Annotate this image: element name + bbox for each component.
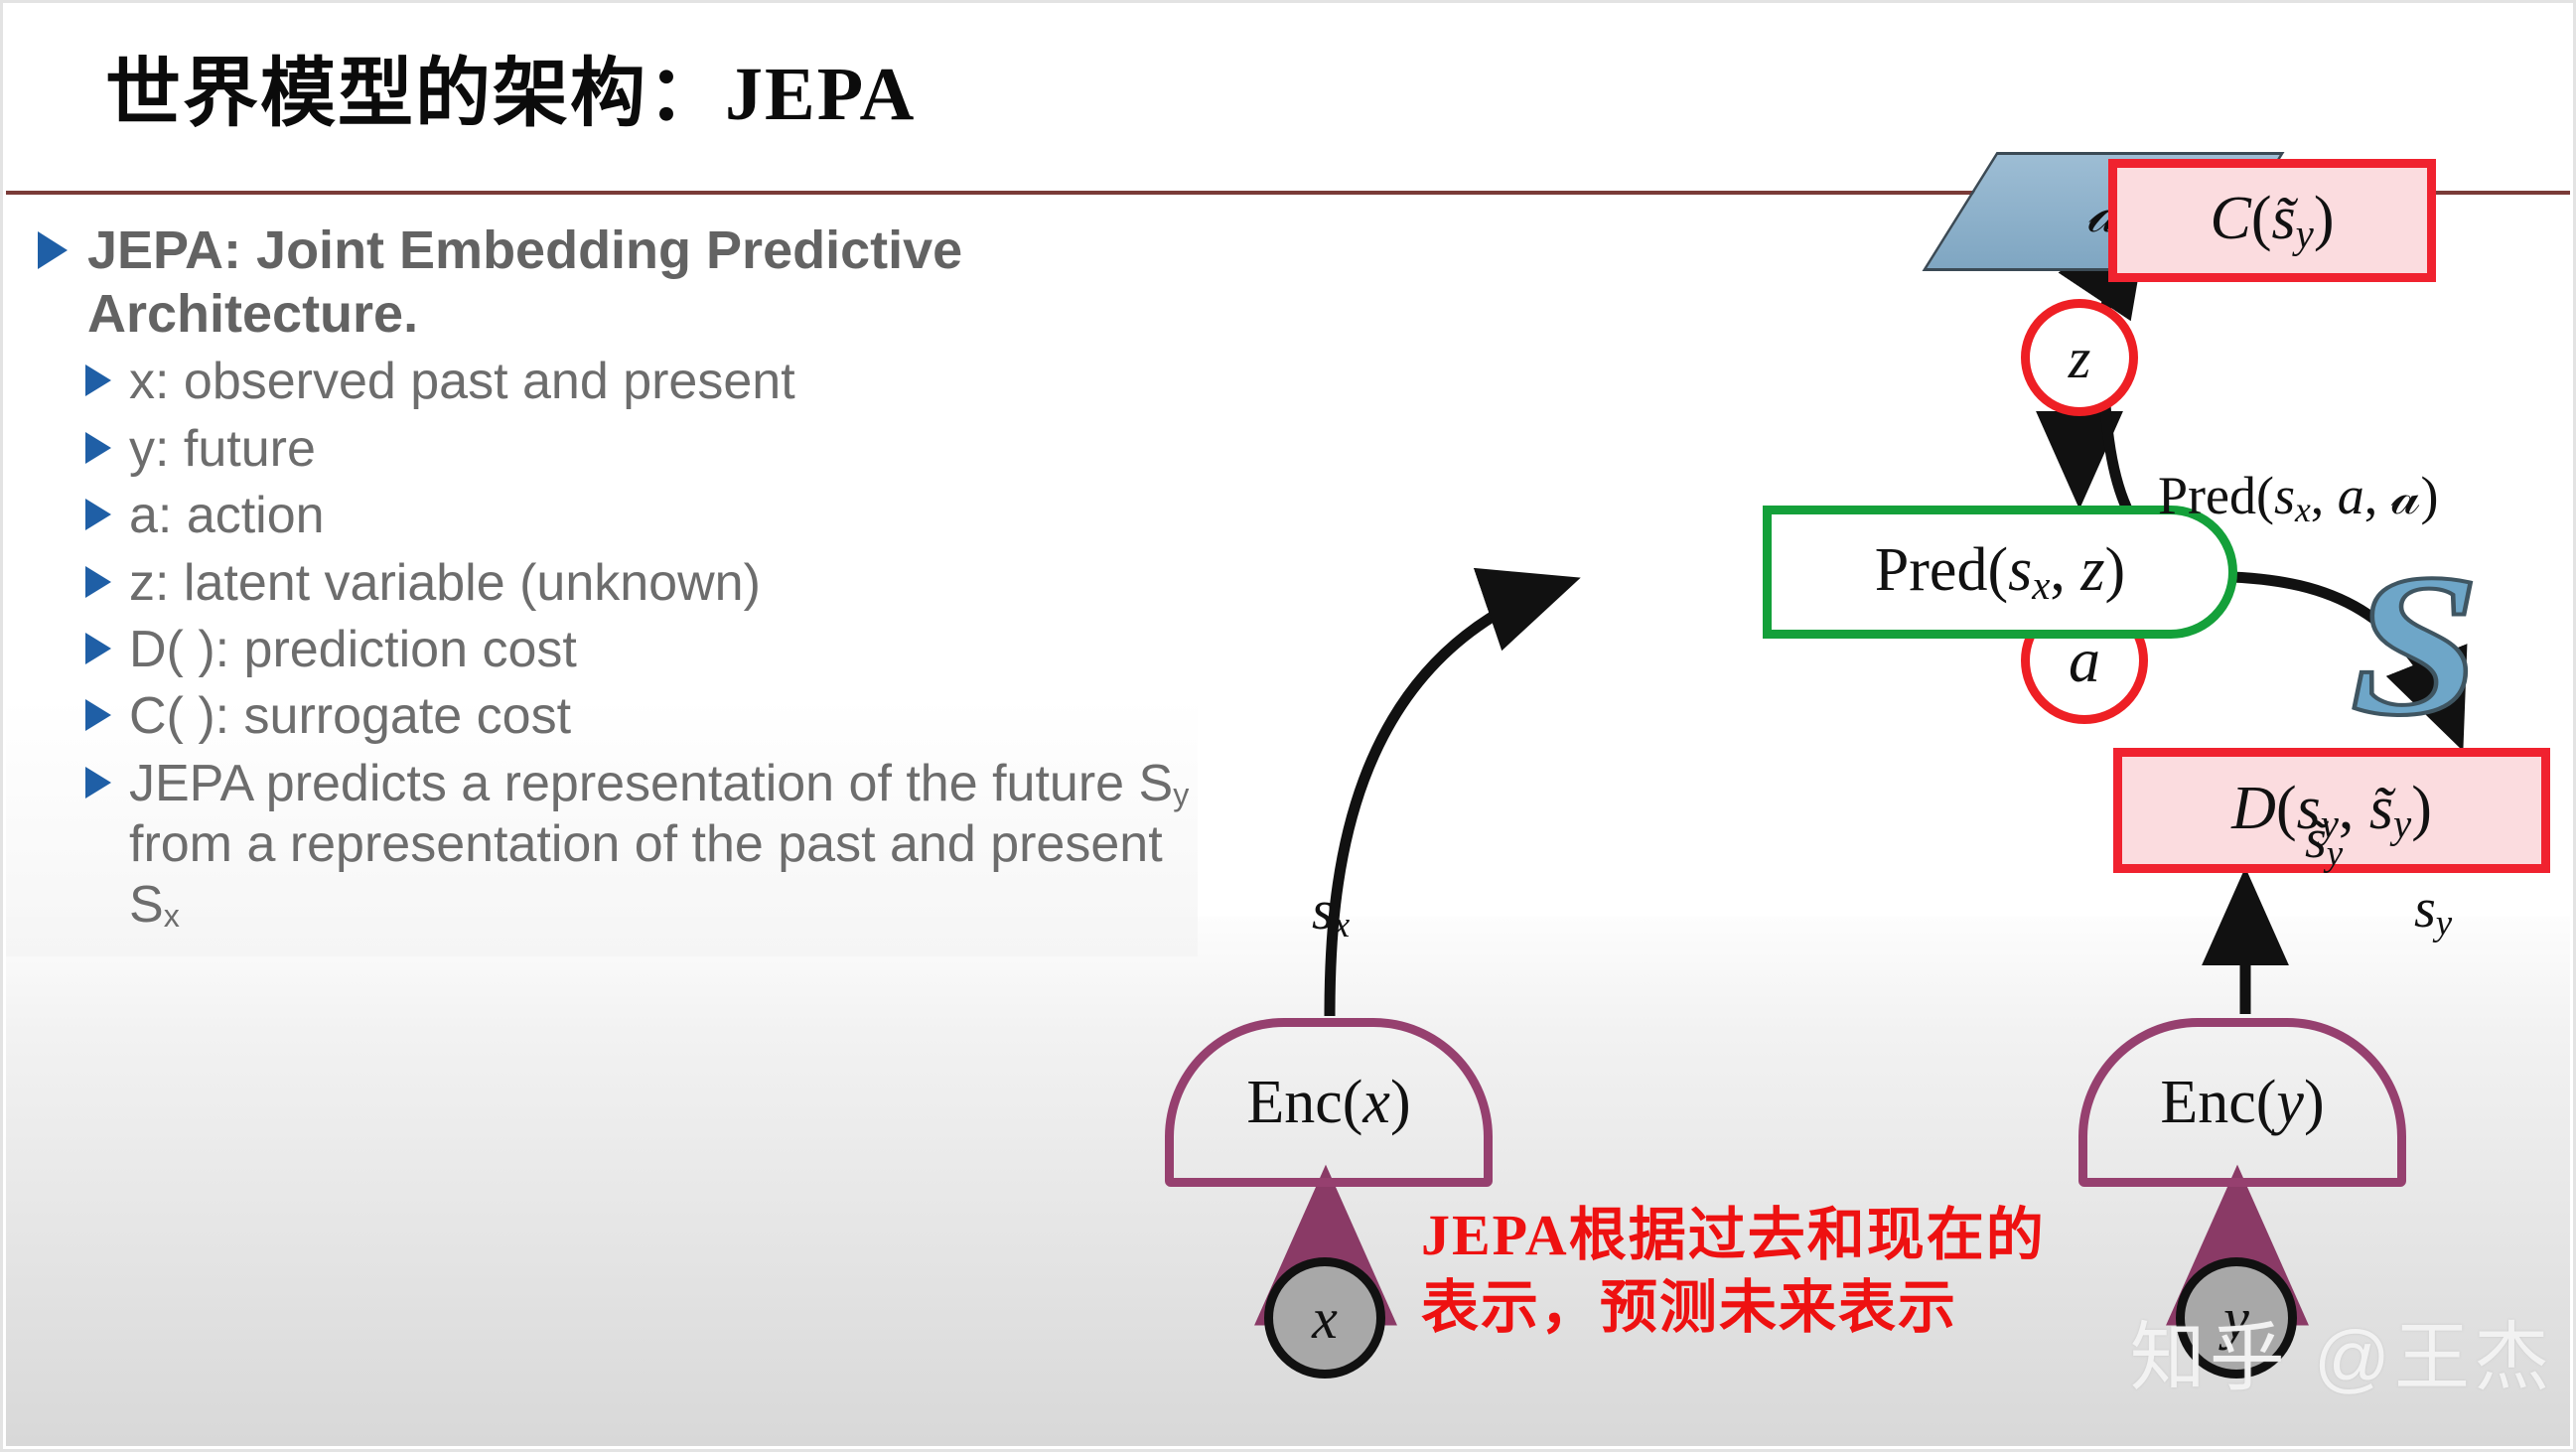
node-encoder-y-label: Enc(y) xyxy=(2160,1068,2324,1138)
edge-label-sy: sy xyxy=(2414,877,2452,944)
node-z-label: z xyxy=(2069,325,2091,391)
list-item: z: latent variable (unknown) xyxy=(85,553,1210,614)
node-encoder-x[interactable]: Enc(x) xyxy=(1165,1018,1493,1187)
list-item: y: future xyxy=(85,419,1210,480)
node-encoder-y[interactable]: Enc(y) xyxy=(2078,1018,2406,1187)
red-annotation-line1: JEPA根据过去和现在的 xyxy=(1421,1199,2046,1271)
red-annotation: JEPA根据过去和现在的 表示，预测未来表示 xyxy=(1421,1199,2046,1344)
list-item: x: observed past and present xyxy=(85,352,1210,412)
bullet-triangle-icon xyxy=(85,633,111,664)
page-title: 世界模型的架构：JEPA xyxy=(105,32,916,141)
bullet-triangle-icon xyxy=(85,699,111,731)
edge-label-sx: sx xyxy=(1312,879,1350,945)
list-item: D( ): prediction cost xyxy=(85,620,1210,680)
bullet-triangle-icon xyxy=(85,566,111,598)
red-annotation-line2: 表示，预测未来表示 xyxy=(1421,1271,2046,1344)
node-surrogate-cost-label: C(s̃y) xyxy=(2211,184,2335,257)
bullet-text: z: latent variable (unknown) xyxy=(129,553,761,614)
bullet-text: x: observed past and present xyxy=(129,352,795,412)
node-z-circle[interactable]: z xyxy=(2021,299,2138,416)
list-item: C( ): surrogate cost xyxy=(85,686,1210,747)
node-y-label: y xyxy=(2223,1285,2249,1352)
node-predictor-label: Pred(sx, z) xyxy=(1875,535,2125,609)
node-x-label: x xyxy=(1312,1285,1338,1352)
bullet-text: JEPA: Joint Embedding Predictive Archite… xyxy=(87,219,1210,346)
bullet-triangle-icon xyxy=(38,231,68,269)
slide-canvas: 世界模型的架构：JEPA JEPA: Joint Embedding Predi… xyxy=(0,0,2576,1452)
bullet-text: a: action xyxy=(129,486,325,546)
list-item: JEPA: Joint Embedding Predictive Archite… xyxy=(38,219,1210,346)
bullet-triangle-icon xyxy=(85,499,111,530)
list-item: a: action xyxy=(85,486,1210,546)
node-surrogate-cost-box[interactable]: C(s̃y) xyxy=(2108,159,2436,282)
bullet-text: JEPA predicts a representation of the fu… xyxy=(129,754,1210,937)
bullet-text: C( ): surrogate cost xyxy=(129,686,571,747)
bullet-triangle-icon xyxy=(85,432,111,464)
bullet-list: JEPA: Joint Embedding Predictive Archite… xyxy=(38,219,1210,943)
edge-label-s-tilde-y: s̃y xyxy=(2305,807,2343,874)
node-y-circle[interactable]: y xyxy=(2176,1257,2297,1379)
bullet-triangle-icon xyxy=(85,767,111,799)
arrow-encx-to-pred xyxy=(1330,584,1562,1016)
blue-s-glyph-icon: S xyxy=(2350,559,2480,732)
node-x-circle[interactable]: x xyxy=(1264,1257,1385,1379)
list-item: JEPA predicts a representation of the fu… xyxy=(85,754,1210,937)
side-label-pred-full: Pred(sx, a, 𝒶) xyxy=(2158,465,2438,530)
bullet-text: y: future xyxy=(129,419,316,480)
bullet-triangle-icon xyxy=(85,364,111,396)
bullet-text: D( ): prediction cost xyxy=(129,620,577,680)
node-encoder-x-label: Enc(x) xyxy=(1246,1068,1410,1138)
